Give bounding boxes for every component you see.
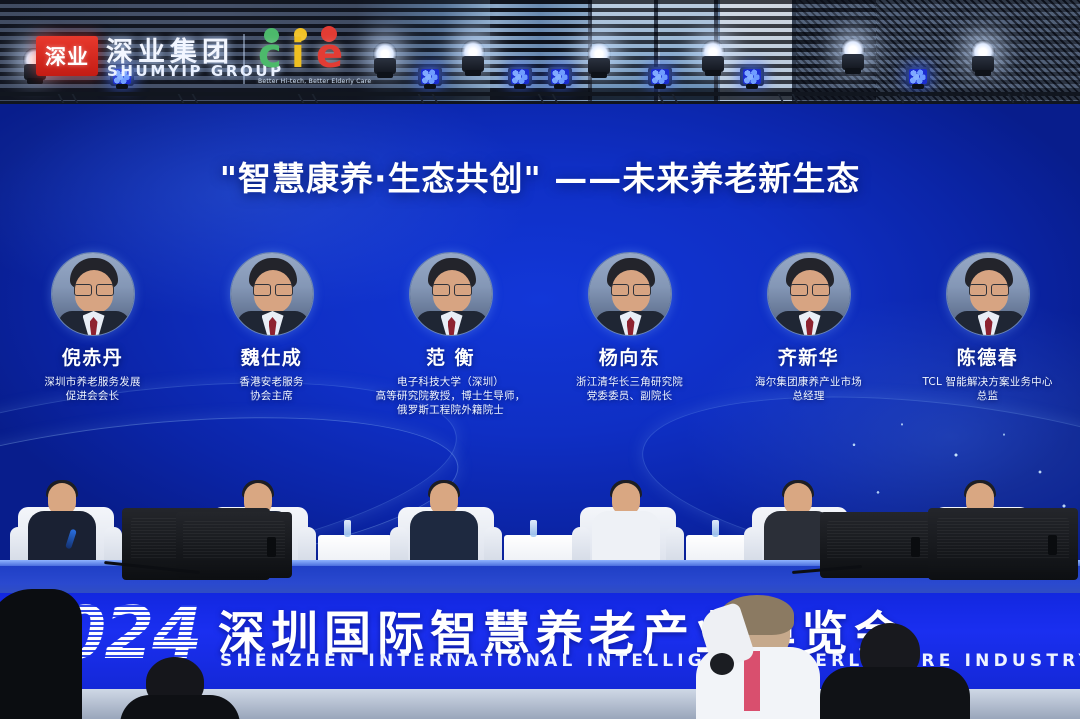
- speaker-handle: [267, 537, 276, 557]
- water-bottle: [712, 520, 719, 537]
- portrait-photo: [589, 253, 672, 336]
- cie-letter-i: i: [291, 34, 305, 74]
- speaker-title-line: 海尔集团康养产业市场: [730, 375, 887, 389]
- shumyip-badge: 深业: [36, 36, 98, 76]
- portrait-photo: [947, 253, 1030, 336]
- speaker-title-line: 深圳市养老服务发展: [14, 375, 171, 389]
- audience-member: [0, 589, 82, 719]
- speaker-card: 魏仕成 香港安老服务 协会主席: [193, 252, 350, 422]
- speaker-title: 海尔集团康养产业市场 总经理: [730, 375, 887, 403]
- speaker-title-line: 促进会会长: [14, 389, 171, 403]
- cie-expo-logo: c i e Better Hi-tech, Better Elderly Car…: [258, 28, 368, 90]
- speaker-name: 陈德春: [909, 343, 1066, 370]
- water-bottle: [530, 520, 537, 537]
- spotlight-base: [705, 70, 721, 76]
- speaker-title: 浙江清华长三角研究院 党委委员、副院长: [551, 375, 708, 403]
- portrait-photo: [52, 253, 135, 336]
- speaker-title-line: 协会主席: [193, 389, 350, 403]
- eyeglasses-icon: [253, 284, 293, 294]
- spotlight-base: [465, 70, 481, 76]
- eyeglasses-icon: [790, 284, 830, 294]
- eyeglasses-icon: [611, 284, 651, 294]
- avatar: [51, 252, 135, 336]
- eyeglasses-icon: [432, 284, 472, 294]
- speaker-card: 齐新华 海尔集团康养产业市场 总经理: [730, 252, 887, 422]
- speaker-card: 陈德春 TCL 智能解决方案业务中心 总监: [909, 252, 1066, 422]
- speaker-handle: [1048, 535, 1057, 555]
- spotlight-base: [845, 68, 861, 74]
- body-shape: [820, 667, 970, 719]
- audience-member: [820, 623, 970, 719]
- speaker-title: 电子科技大学（深圳） 高等研究院教授，博士生导师， 俄罗斯工程院外籍院士: [372, 375, 529, 417]
- speaker-name: 齐新华: [730, 343, 887, 370]
- portrait-photo: [410, 253, 493, 336]
- avatar: [230, 252, 314, 336]
- spotlight-base: [591, 72, 607, 78]
- speaker-card: 杨向东 浙江清华长三角研究院 党委委员、副院长: [551, 252, 708, 422]
- audience-member: [690, 599, 820, 719]
- eyeglasses-icon: [74, 284, 114, 294]
- speaker-title-line: 香港安老服务: [193, 375, 350, 389]
- cie-letter-c: c: [258, 34, 282, 74]
- wristwatch: [710, 653, 734, 675]
- avatar: [588, 252, 672, 336]
- speaker-title-line: 总监: [909, 389, 1066, 403]
- speaker-name: 倪赤丹: [14, 343, 171, 370]
- audience-member: [120, 657, 240, 719]
- cie-letter-e: e: [316, 34, 343, 74]
- speaker-title: 香港安老服务 协会主席: [193, 375, 350, 403]
- avatar: [946, 252, 1030, 336]
- lighting-truss: [0, 82, 1080, 104]
- avatar: [409, 252, 493, 336]
- avatar: [767, 252, 851, 336]
- speaker-card: 倪赤丹 深圳市养老服务发展 促进会会长: [14, 252, 171, 422]
- speaker-handle: [911, 537, 920, 557]
- stage-monitor-speaker: [176, 512, 292, 578]
- water-bottle: [344, 520, 351, 537]
- spotlight-base: [975, 70, 991, 76]
- speaker-name: 杨向东: [551, 343, 708, 370]
- conference-stage-photo: 深业 深业集团 SHUMYIP GROUP c i e Better Hi-te…: [0, 0, 1080, 719]
- speaker-title: 深圳市养老服务发展 促进会会长: [14, 375, 171, 403]
- speaker-name: 魏仕成: [193, 343, 350, 370]
- session-headline: "智慧康养·生态共创" ——未来养老新生态: [0, 152, 1080, 200]
- portrait-photo: [768, 253, 851, 336]
- speaker-title-line: 高等研究院教授，博士生导师，: [372, 389, 529, 403]
- speaker-title-line: 总经理: [730, 389, 887, 403]
- speaker-title: TCL 智能解决方案业务中心 总监: [909, 375, 1066, 403]
- speaker-card: 范 衡 电子科技大学（深圳） 高等研究院教授，博士生导师， 俄罗斯工程院外籍院士: [372, 252, 529, 422]
- speaker-title-line: 电子科技大学（深圳）: [372, 375, 529, 389]
- speaker-lineup: 倪赤丹 深圳市养老服务发展 促进会会长 魏仕成 香港安老服务 协: [0, 252, 1080, 422]
- lanyard: [744, 651, 760, 711]
- logo-divider: [243, 34, 245, 84]
- body-shape: [120, 695, 240, 719]
- speaker-name: 范 衡: [372, 343, 529, 370]
- speaker-title-line: TCL 智能解决方案业务中心: [909, 375, 1066, 389]
- stage-monitor-speaker: [928, 508, 1078, 580]
- portrait-photo: [231, 253, 314, 336]
- speaker-title-line: 党委委员、副院长: [551, 389, 708, 403]
- eyeglasses-icon: [969, 284, 1009, 294]
- speaker-title-line: 浙江清华长三角研究院: [551, 375, 708, 389]
- body-shape: [0, 589, 82, 719]
